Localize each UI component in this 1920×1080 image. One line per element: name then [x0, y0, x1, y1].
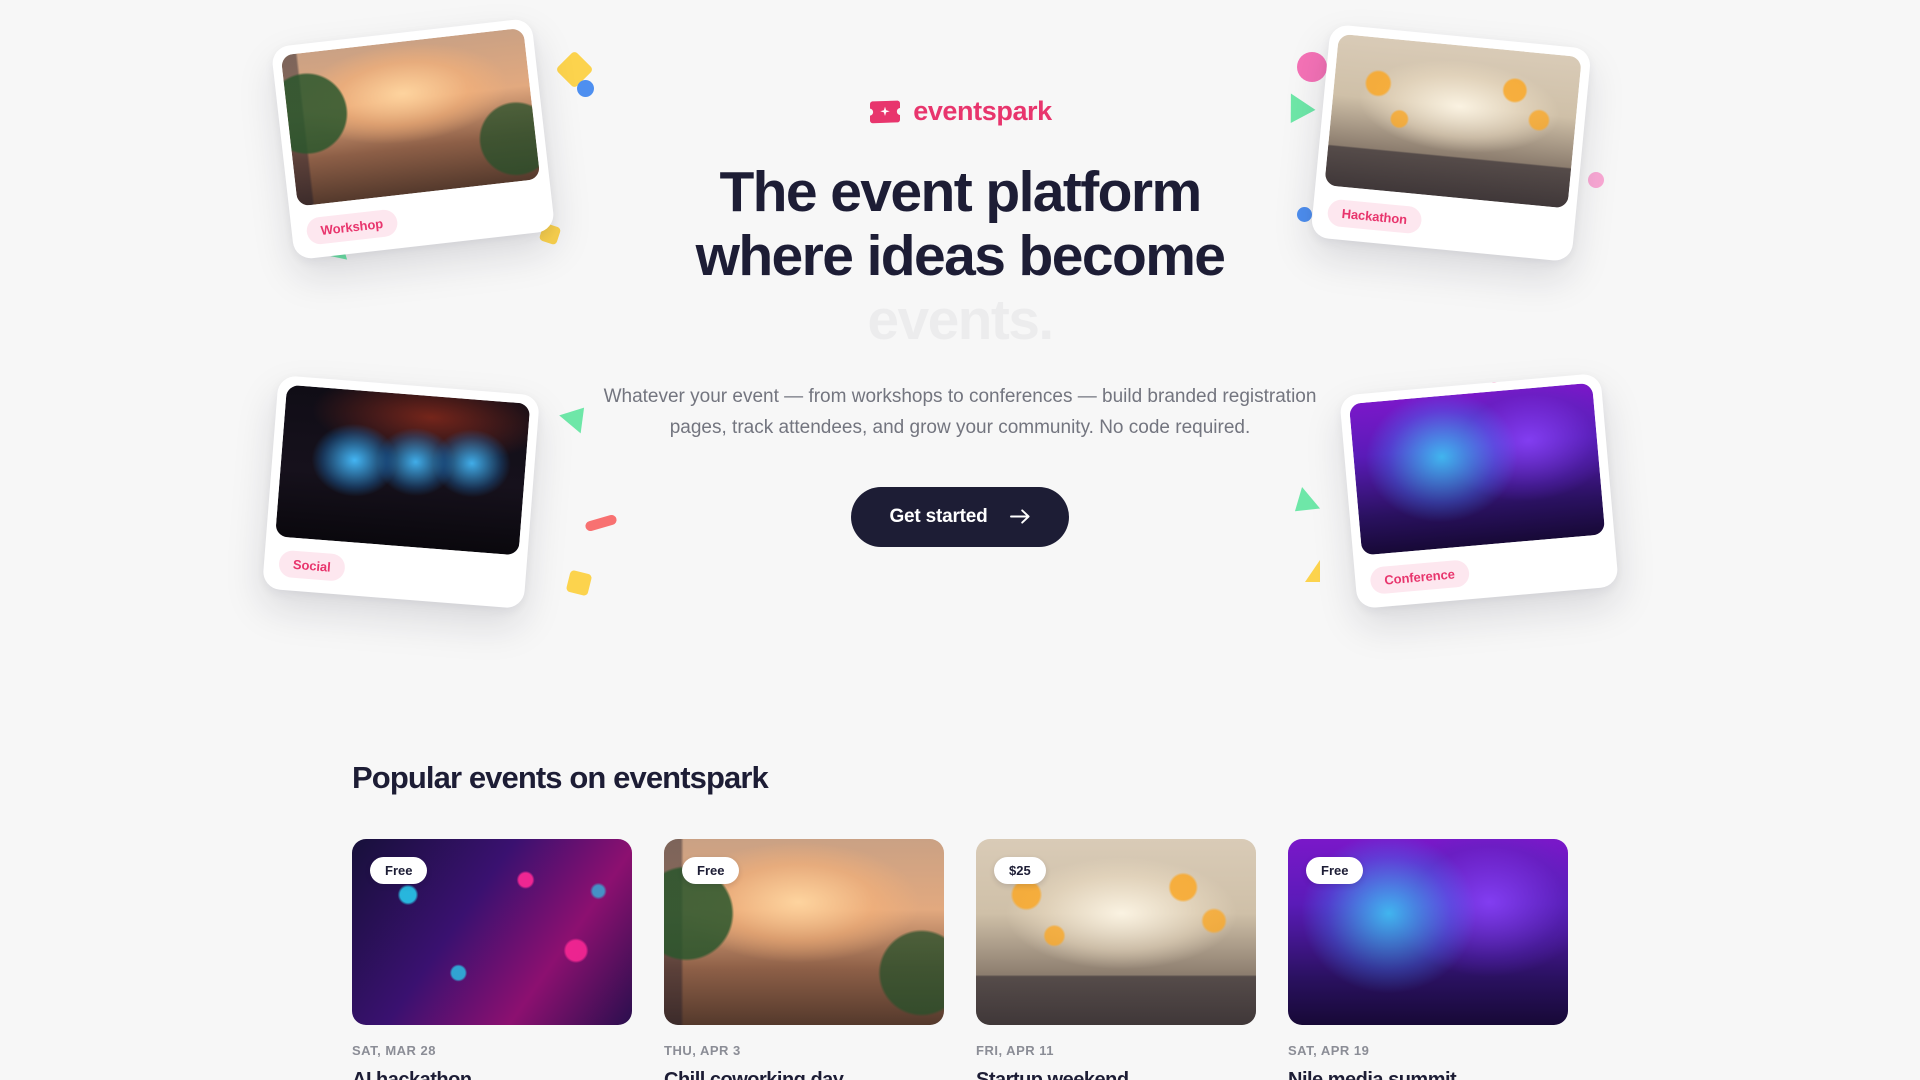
event-date: FRI, APR 11: [976, 1043, 1256, 1058]
cta-row: Get started: [580, 487, 1340, 547]
decor-triangle-yellow-lowright: [1290, 560, 1320, 582]
hero-section: Workshop Hackathon Social Conference: [0, 0, 1920, 745]
event-date: SAT, APR 19: [1288, 1043, 1568, 1058]
event-date: SAT, MAR 28: [352, 1043, 632, 1058]
headline-line-1: The event platform: [580, 161, 1340, 225]
decor-square-yellow-lowleft: [566, 570, 593, 597]
brand-name: eventspark: [913, 96, 1052, 127]
event-card[interactable]: Free SAT, MAR 28 AI hackathon: [352, 839, 632, 1080]
decor-circle-pink-right: [1297, 52, 1327, 82]
get-started-button[interactable]: Get started: [851, 487, 1068, 547]
ticket-icon: [868, 100, 902, 124]
price-badge: $25: [994, 857, 1046, 884]
hero-subtitle: Whatever your event — from workshops to …: [580, 382, 1340, 442]
hero-preview-tag: Conference: [1369, 559, 1470, 594]
hero-preview-card-social[interactable]: Social: [262, 375, 540, 609]
event-title: Nile media summit: [1288, 1067, 1568, 1080]
event-thumbnail: Free: [664, 839, 944, 1025]
hero-preview-image: [281, 28, 541, 207]
event-date: THU, APR 3: [664, 1043, 944, 1058]
event-card[interactable]: Free SAT, APR 19 Nile media summit: [1288, 839, 1568, 1080]
hero-preview-tag: Workshop: [305, 208, 398, 245]
hero-preview-image: [1349, 383, 1605, 556]
hero-preview-image: [275, 385, 530, 556]
event-title: Startup weekend: [976, 1067, 1256, 1080]
hero-preview-card-conference[interactable]: Conference: [1339, 373, 1619, 609]
event-thumbnail: Free: [352, 839, 632, 1025]
event-card-grid: Free SAT, MAR 28 AI hackathon Free THU, …: [352, 839, 1568, 1080]
hero-preview-image: [1324, 34, 1581, 209]
headline-line-3: events.: [580, 289, 1340, 353]
decor-dot-blue-left: [577, 80, 594, 97]
event-card[interactable]: Free THU, APR 3 Chill coworking day: [664, 839, 944, 1080]
hero-preview-tag: Hackathon: [1327, 199, 1423, 235]
decor-dot-pink-right: [1588, 172, 1604, 188]
hero-preview-tag: Social: [278, 550, 346, 582]
landing-page: Workshop Hackathon Social Conference: [0, 0, 1920, 1080]
get-started-label: Get started: [889, 506, 987, 528]
page-title: The event platform where ideas become ev…: [580, 161, 1340, 352]
price-badge: Free: [1306, 857, 1363, 884]
event-title: AI hackathon: [352, 1067, 632, 1080]
popular-events-section: Popular events on eventspark Free SAT, M…: [0, 760, 1920, 1080]
hero-preview-card-hackathon[interactable]: Hackathon: [1310, 24, 1591, 262]
popular-events-title: Popular events on eventspark: [352, 760, 1568, 796]
arrow-right-icon: [1010, 509, 1031, 524]
hero-preview-card-workshop[interactable]: Workshop: [271, 18, 556, 260]
event-title: Chill coworking day: [664, 1067, 944, 1080]
event-thumbnail: $25: [976, 839, 1256, 1025]
hero-content: eventspark The event platform where idea…: [580, 96, 1340, 547]
price-badge: Free: [682, 857, 739, 884]
event-card[interactable]: $25 FRI, APR 11 Startup weekend: [976, 839, 1256, 1080]
headline-line-2: where ideas become: [580, 225, 1340, 289]
brand-logo[interactable]: eventspark: [580, 96, 1340, 127]
event-thumbnail: Free: [1288, 839, 1568, 1025]
price-badge: Free: [370, 857, 427, 884]
